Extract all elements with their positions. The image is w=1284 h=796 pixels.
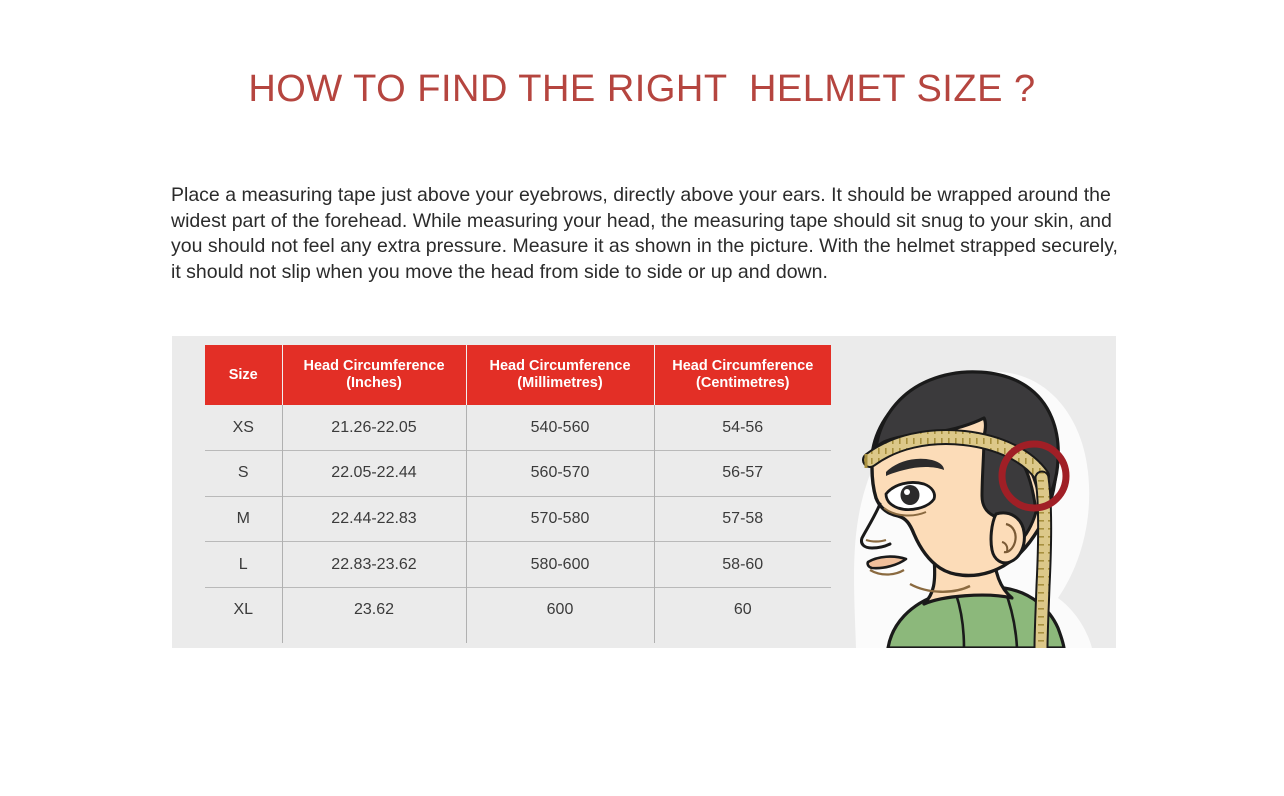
table-row: S 22.05-22.44 560-570 56-57: [205, 451, 831, 497]
cell-centimetres: 60: [654, 587, 831, 633]
cell-millimetres: 560-570: [466, 451, 654, 497]
cell-millimetres: 580-600: [466, 542, 654, 588]
head-measuring-tape-illustration: [836, 336, 1116, 648]
table-row: M 22.44-22.83 570-580 57-58: [205, 496, 831, 542]
cell-size: S: [205, 451, 282, 497]
cell-millimetres: 570-580: [466, 496, 654, 542]
cell-centimetres: 58-60: [654, 542, 831, 588]
column-header-size-line1: Size: [229, 367, 258, 383]
cell-millimetres: 600: [466, 587, 654, 633]
column-header-size: Size: [205, 345, 282, 405]
column-header-centimetres-line2: (Centimetres): [696, 375, 789, 391]
cell-inches: 22.05-22.44: [282, 451, 466, 497]
table-row: XS 21.26-22.05 540-560 54-56: [205, 405, 831, 451]
table-header: Size Head Circumference (Inches) Head Ci…: [205, 345, 831, 405]
column-header-millimetres-line2: (Millimetres): [517, 375, 602, 391]
cell-size: M: [205, 496, 282, 542]
table-header-row: Size Head Circumference (Inches) Head Ci…: [205, 345, 831, 405]
intro-paragraph: Place a measuring tape just above your e…: [171, 183, 1123, 285]
cell-inches: 22.44-22.83: [282, 496, 466, 542]
page-title: HOW TO FIND THE RIGHT HELMET SIZE ?: [0, 68, 1284, 111]
column-header-inches: Head Circumference (Inches): [282, 345, 466, 405]
size-chart-panel: Size Head Circumference (Inches) Head Ci…: [172, 336, 1116, 648]
cell-size: XL: [205, 587, 282, 633]
column-header-millimetres-line1: Head Circumference: [489, 358, 630, 374]
column-header-inches-line1: Head Circumference: [303, 358, 444, 374]
table-row: XL 23.62 600 60: [205, 587, 831, 633]
cell-inches: 23.62: [282, 587, 466, 633]
cell-centimetres: 56-57: [654, 451, 831, 497]
cell-millimetres: 540-560: [466, 405, 654, 451]
size-chart-table: Size Head Circumference (Inches) Head Ci…: [205, 345, 831, 633]
column-header-centimetres-line1: Head Circumference: [672, 358, 813, 374]
column-header-centimetres: Head Circumference (Centimetres): [654, 345, 831, 405]
cell-centimetres: 54-56: [654, 405, 831, 451]
cell-centimetres: 57-58: [654, 496, 831, 542]
table-row: L 22.83-23.62 580-600 58-60: [205, 542, 831, 588]
column-header-millimetres: Head Circumference (Millimetres): [466, 345, 654, 405]
cell-size: XS: [205, 405, 282, 451]
table-body: XS 21.26-22.05 540-560 54-56 S 22.05-22.…: [205, 405, 831, 633]
cell-inches: 21.26-22.05: [282, 405, 466, 451]
cell-size: L: [205, 542, 282, 588]
cell-inches: 22.83-23.62: [282, 542, 466, 588]
column-header-inches-line2: (Inches): [346, 375, 402, 391]
